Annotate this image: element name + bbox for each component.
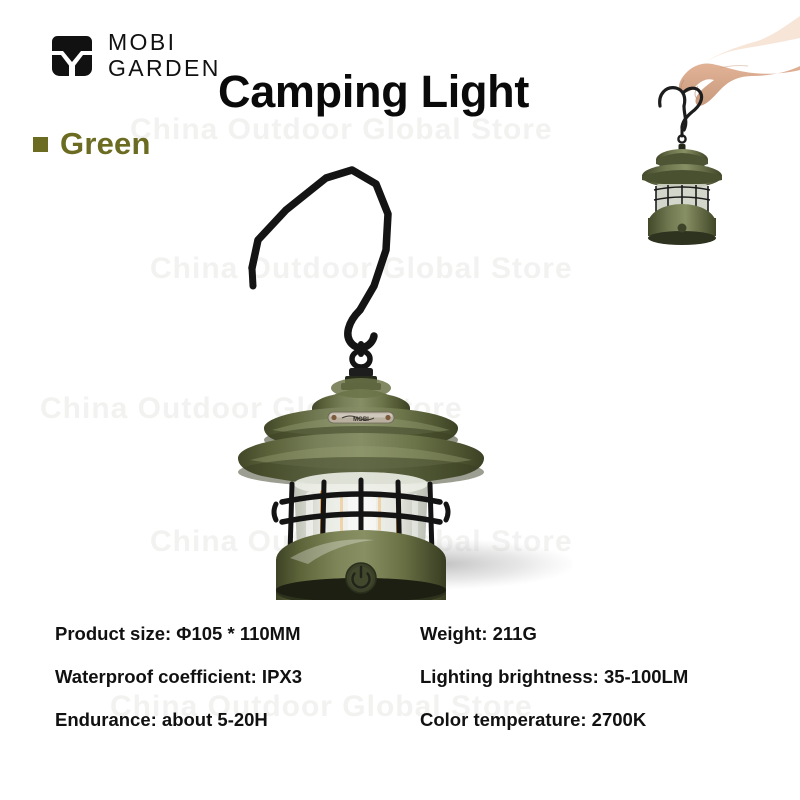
mobi-garden-chevron-logo-icon xyxy=(48,32,96,80)
hand-shape xyxy=(679,16,800,106)
brand-line-2: GARDEN xyxy=(108,56,221,82)
page-title: Camping Light xyxy=(218,66,529,118)
spec-column-right: Weight: 211G Lighting brightness: 35-100… xyxy=(420,612,800,741)
spec-column-left: Product size: Φ105 * 110MM Waterproof co… xyxy=(0,612,420,741)
inset-hand-holding-lantern xyxy=(624,8,800,248)
spec-brightness: Lighting brightness: 35-100LM xyxy=(420,655,800,698)
spec-weight: Weight: 211G xyxy=(420,612,800,655)
s-hook-icon xyxy=(252,170,388,348)
brand-wordmark: MOBI GARDEN xyxy=(108,30,221,82)
inset-lantern xyxy=(642,149,722,245)
svg-text:MOBI: MOBI xyxy=(353,417,369,423)
brand-line-1: MOBI xyxy=(108,30,221,56)
color-option-label: Green xyxy=(60,126,151,162)
specifications: Product size: Φ105 * 110MM Waterproof co… xyxy=(0,612,800,741)
color-option[interactable]: Green xyxy=(33,126,151,162)
spec-color-temperature: Color temperature: 2700K xyxy=(420,698,800,741)
power-button[interactable] xyxy=(346,563,376,593)
product-image-canvas: China Outdoor Global Store China Outdoor… xyxy=(0,0,800,800)
color-swatch-icon xyxy=(33,137,48,152)
brand-nameplate-icon: MOBI xyxy=(328,412,394,423)
product-hero-image: MOBI xyxy=(228,140,572,600)
hook-eyelet xyxy=(352,351,370,367)
brand-logo: MOBI GARDEN xyxy=(48,30,221,82)
spec-product-size: Product size: Φ105 * 110MM xyxy=(55,612,420,655)
spec-waterproof: Waterproof coefficient: IPX3 xyxy=(55,655,420,698)
spec-endurance: Endurance: about 5-20H xyxy=(55,698,420,741)
